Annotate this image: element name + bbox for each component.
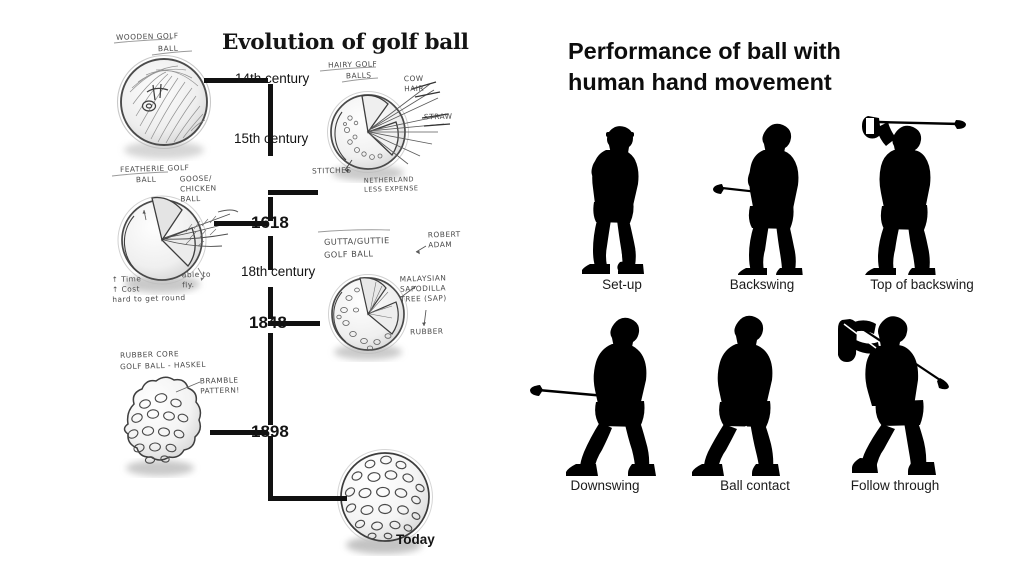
slide-canvas: Evolution of golf ball (0, 0, 1027, 578)
sketch-featherie-golf-ball: FEATHERIE GOLF BALL GOOSE/ CHICKEN BALL … (106, 164, 256, 314)
hairy-ball-underline (312, 60, 464, 208)
performance-title: Performance of ball with human hand move… (568, 36, 998, 98)
ball-contact-silhouette-icon (690, 306, 820, 476)
swing-stage-follow-through-label: Follow through (820, 478, 970, 493)
rubber-core-label-1: RUBBER CORE (120, 349, 179, 361)
swing-stage-top-of-backswing[interactable]: Top of backswing (842, 110, 1002, 292)
modern-ball-drawing (330, 440, 460, 565)
swing-row-bottom: Downswing (520, 306, 1020, 493)
performance-panel: Performance of ball with human hand move… (500, 0, 1027, 578)
sketch-rubber-core-ball: RUBBER CORE GOLF BALL - HASKEL BRAMBLE P… (112, 348, 262, 498)
swing-stage-top-of-backswing-label: Top of backswing (842, 277, 1002, 292)
swing-stage-follow-through[interactable]: Follow through (820, 306, 970, 493)
timeline-label-18th-century: 18th century (241, 264, 315, 279)
evolution-panel: Evolution of golf ball (0, 0, 500, 578)
follow-through-silhouette-icon (820, 306, 970, 476)
performance-title-line-2: human hand movement (568, 67, 998, 98)
swing-stage-setup-label: Set-up (562, 277, 682, 292)
swing-stage-downswing-label: Downswing (520, 478, 690, 493)
swing-stage-backswing[interactable]: Backswing (682, 110, 842, 292)
timeline-tick-15th (268, 190, 318, 195)
swing-row-top: Set-up (562, 110, 1020, 292)
timeline-label-1618: 1618 (251, 213, 289, 233)
wooden-ball-underline (106, 28, 231, 168)
rubber-core-label-bramble: BRAMBLE PATTERN! (200, 375, 240, 396)
backswing-silhouette-icon (682, 110, 842, 275)
timeline-elbow-today (268, 436, 347, 501)
performance-title-line-1: Performance of ball with (568, 36, 998, 67)
top-of-backswing-silhouette-icon (842, 110, 1002, 275)
swing-stage-ball-contact[interactable]: Ball contact (690, 306, 820, 493)
downswing-silhouette-icon (520, 306, 690, 476)
timeline-spine-seg-5 (268, 333, 273, 425)
swing-stage-setup[interactable]: Set-up (562, 110, 682, 292)
swing-sequence-grid: Set-up (520, 110, 1020, 493)
sketch-gutta-guttie-ball: GUTTA/GUTTIE GOLF BALL ROBERT ADAM MALAY… (312, 224, 467, 369)
gutta-underline (312, 224, 467, 369)
swing-stage-downswing[interactable]: Downswing (520, 306, 690, 493)
sketch-modern-golf-ball (330, 440, 460, 565)
timeline-label-15th-century: 15th century (234, 131, 308, 146)
swing-stage-ball-contact-label: Ball contact (690, 478, 820, 493)
sketch-hairy-golf-ball: HAIRY GOLF BALLS COW HAIR STRAW STITCHES… (312, 60, 464, 208)
timeline-label-today: Today (396, 532, 435, 547)
swing-stage-backswing-label: Backswing (682, 277, 842, 292)
timeline-label-14th-century: 14th century (235, 71, 309, 86)
featherie-underline (106, 164, 256, 314)
evolution-title: Evolution of golf ball (222, 30, 462, 55)
timeline-label-1848: 1848 (249, 313, 287, 333)
sketch-wooden-golf-ball: WOODEN GOLF BALL (106, 28, 231, 168)
setup-silhouette-icon (562, 110, 682, 275)
